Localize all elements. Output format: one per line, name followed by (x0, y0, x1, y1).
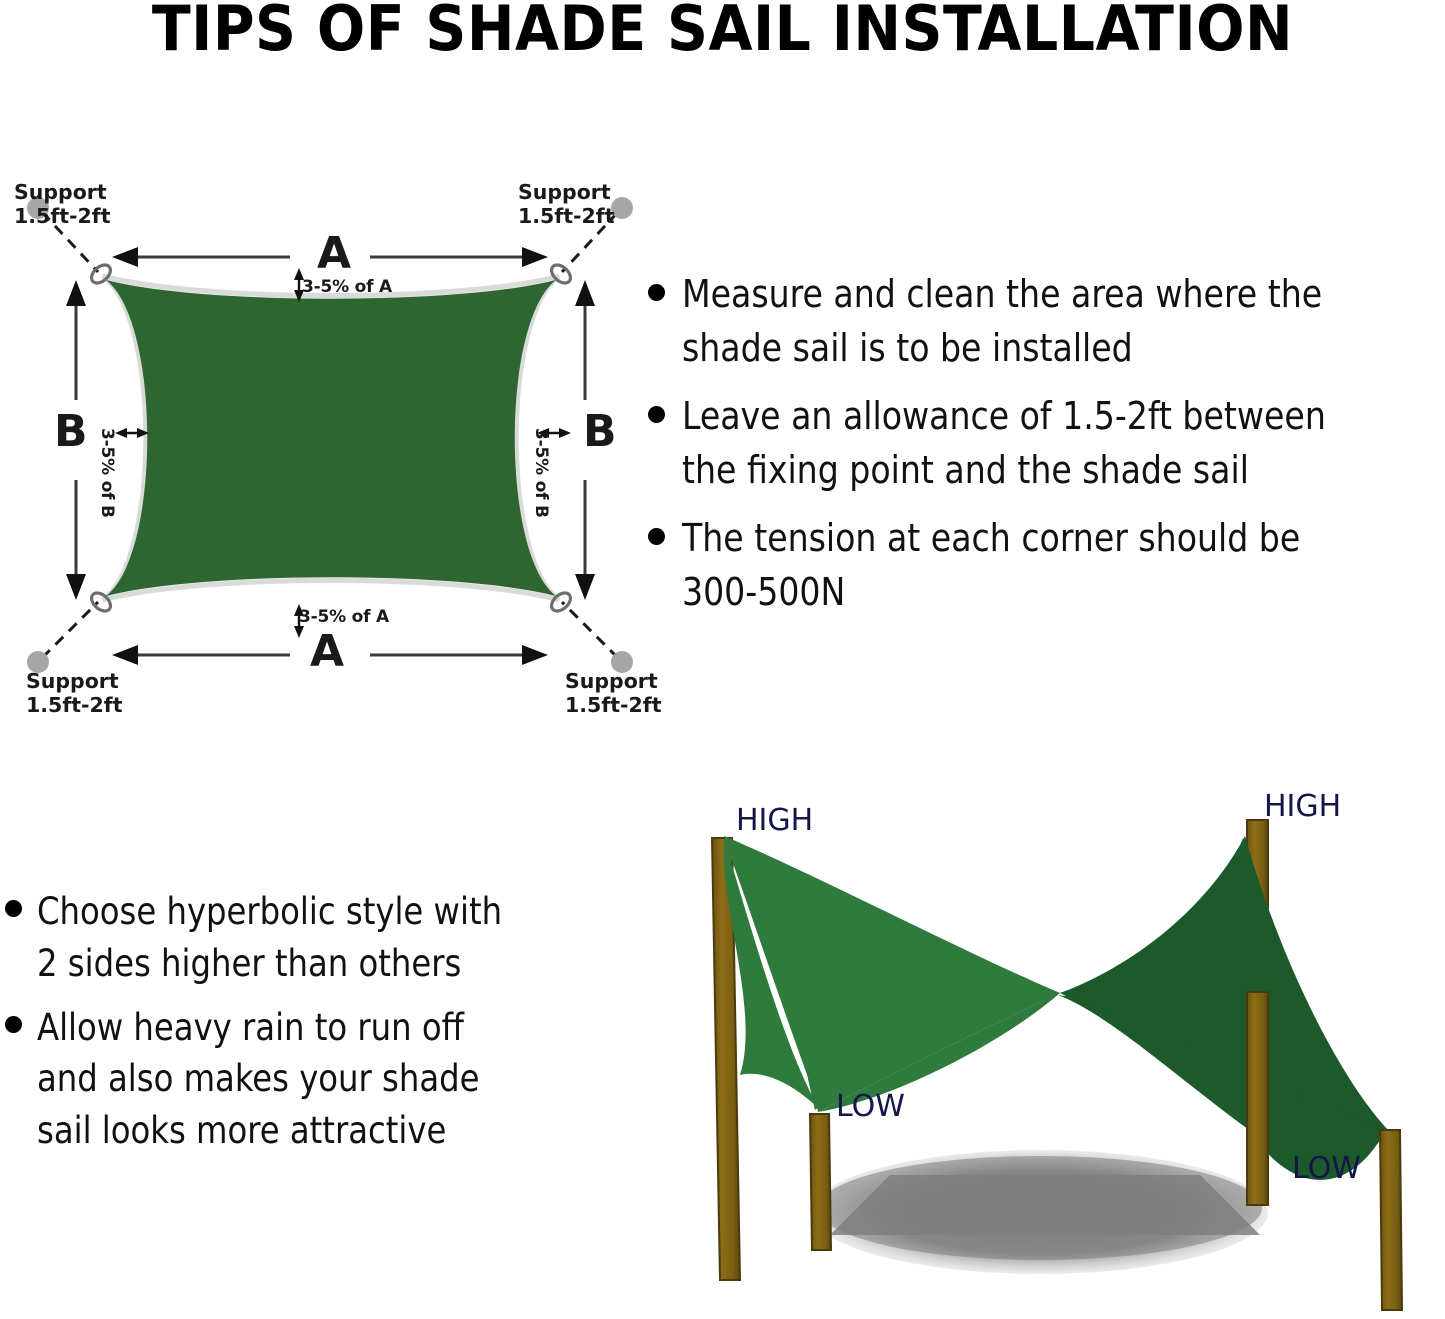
arrowhead-top-b-right (575, 280, 595, 306)
arrowhead-top-b-left (66, 280, 86, 306)
arrowhead-bottom-b-left (66, 574, 86, 600)
support-label-top-left: Support 1.5ft-2ft (14, 181, 111, 229)
list-item: The tension at each corner should be 300… (648, 512, 1445, 620)
list-item-text: Leave an allowance of 1.5-2ft between th… (682, 390, 1326, 498)
arrowhead-bottom-b-right (575, 574, 595, 600)
bullet-dot-icon (648, 284, 665, 301)
dimension-label-b-left: B (54, 406, 88, 457)
curve-label-top: 3-5% of A (302, 277, 392, 297)
installation-tips-list: Measure and clean the area where the sha… (648, 268, 1445, 634)
post-front-right (1380, 1130, 1402, 1310)
arrowhead-left-a-top (112, 247, 138, 267)
list-item: Measure and clean the area where the sha… (648, 268, 1445, 376)
arrowhead-right-a-bottom (522, 645, 548, 665)
label-low-front-right: LOW (1292, 1151, 1361, 1186)
support-label-bottom-right: Support 1.5ft-2ft (565, 670, 662, 718)
ground-shadow-blur (818, 1156, 1262, 1260)
list-item: Leave an allowance of 1.5-2ft between th… (648, 390, 1445, 498)
dimension-label-b-right: B (583, 406, 617, 457)
hyperbolic-shade-sail-illustration: HIGH HIGH LOW LOW (640, 780, 1445, 1319)
label-low-front-left: LOW (836, 1089, 905, 1124)
support-label-bottom-left: Support 1.5ft-2ft (26, 670, 123, 718)
arrowhead-right-a-top (522, 247, 548, 267)
bullet-dot-icon (5, 900, 22, 917)
curve-label-left: 3-5% of B (97, 428, 117, 518)
arrowhead-left-a-bottom (112, 645, 138, 665)
hyperbolic-tips-list: Choose hyperbolic style with 2 sides hig… (5, 886, 645, 1169)
list-item-text: Choose hyperbolic style with 2 sides hig… (37, 886, 502, 990)
post-back-right-front (1247, 992, 1268, 1205)
bullet-dot-icon (5, 1016, 22, 1033)
dimension-label-a-top: A (317, 228, 351, 279)
label-high-back-right: HIGH (1264, 789, 1341, 824)
support-label-top-right: Support 1.5ft-2ft (518, 181, 615, 229)
dimension-label-a-bottom: A (310, 626, 344, 677)
bullet-dot-icon (648, 406, 665, 423)
list-item-text: Measure and clean the area where the sha… (682, 268, 1322, 376)
curve-label-bottom: 3-5% of A (299, 607, 389, 627)
list-item: Choose hyperbolic style with 2 sides hig… (5, 886, 645, 990)
post-front-left (810, 1114, 831, 1250)
label-high-back-left: HIGH (736, 803, 813, 838)
list-item-text: Allow heavy rain to run off and also mak… (37, 1002, 480, 1157)
sail-body (106, 280, 556, 596)
page-title: TIPS OF SHADE SAIL INSTALLATION (0, 0, 1445, 60)
bullet-dot-icon (648, 528, 665, 545)
curve-label-right: 3-5% of B (531, 428, 551, 518)
list-item-text: The tension at each corner should be 300… (682, 512, 1300, 620)
list-item: Allow heavy rain to run off and also mak… (5, 1002, 645, 1157)
